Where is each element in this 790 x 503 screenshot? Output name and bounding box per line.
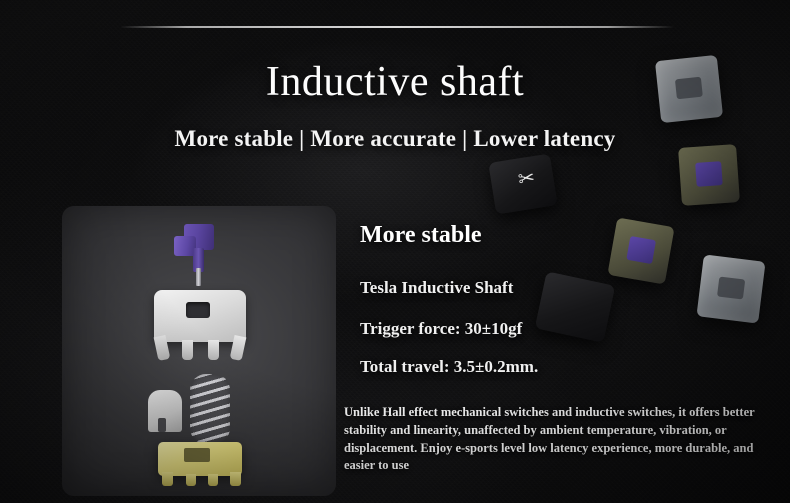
background-switch-purple-right (678, 144, 740, 206)
switch-housing-leg (182, 340, 193, 360)
switch-housing-leg (208, 340, 219, 360)
scissors-icon: ✂ (516, 165, 536, 191)
spec-line-product-name: Tesla Inductive Shaft (360, 278, 513, 298)
spec-line-trigger-force: Trigger force: 30±10gf (360, 319, 522, 339)
section-heading: More stable (360, 222, 482, 249)
switch-base-foot (162, 472, 173, 486)
description-paragraph: Unlike Hall effect mechanical switches a… (344, 404, 774, 475)
switch-base-foot (186, 474, 196, 486)
switch-slider-notch (158, 418, 166, 432)
background-switch-clear-bottom (696, 254, 765, 323)
switch-stem-pin (196, 268, 201, 286)
spec-line-total-travel: Total travel: 3.5±0.2mm. (360, 357, 538, 377)
switch-base-slot (184, 448, 210, 462)
switch-base-foot (230, 472, 241, 486)
product-image-card (62, 206, 336, 496)
background-keycap-bottom (535, 271, 616, 342)
top-divider (120, 26, 674, 28)
poster-canvas: ✂ Inductive shaft More stable | More acc… (0, 0, 790, 503)
page-title: Inductive shaft (0, 58, 790, 106)
switch-base-foot (208, 474, 218, 486)
switch-spring (190, 374, 230, 444)
background-switch-purple-lower (607, 217, 674, 284)
switch-housing-aperture (186, 302, 210, 318)
page-subtitle: More stable | More accurate | Lower late… (0, 126, 790, 152)
